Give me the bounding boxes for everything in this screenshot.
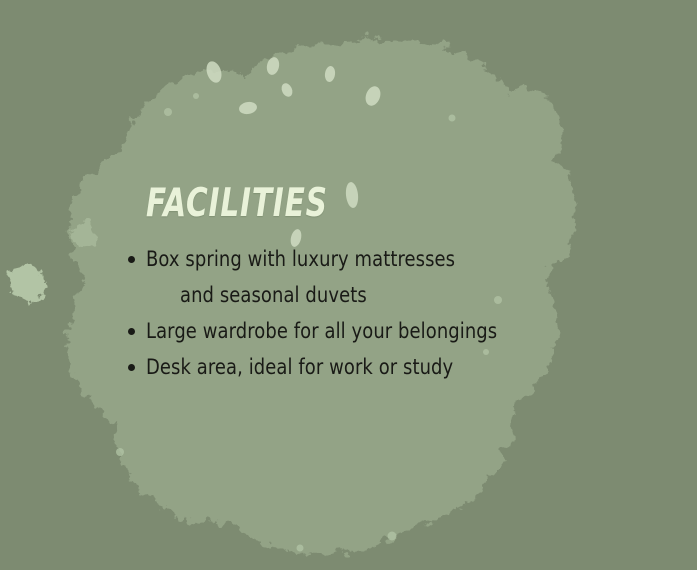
bullet-dot-icon	[128, 328, 135, 335]
list-item: Box spring with luxury mattresses	[124, 243, 594, 279]
list-item: Desk area, ideal for work or study	[124, 351, 594, 387]
facilities-list: Box spring with luxury mattresses and se…	[124, 243, 594, 387]
list-item: Large wardrobe for all your belongings	[124, 315, 594, 351]
facilities-slide: FACILITIES Box spring with luxury mattre…	[0, 0, 697, 570]
list-item-label: and seasonal duvets	[180, 279, 367, 311]
bullet-dot-icon	[128, 256, 135, 263]
slide-content: FACILITIES Box spring with luxury mattre…	[0, 0, 697, 570]
list-item-continuation: and seasonal duvets	[124, 279, 594, 315]
page-title: FACILITIES	[146, 183, 328, 222]
bullet-dot-icon	[128, 364, 135, 371]
list-item-label: Desk area, ideal for work or study	[146, 351, 453, 383]
list-item-label: Box spring with luxury mattresses	[146, 243, 455, 275]
list-item-label: Large wardrobe for all your belongings	[146, 315, 497, 347]
